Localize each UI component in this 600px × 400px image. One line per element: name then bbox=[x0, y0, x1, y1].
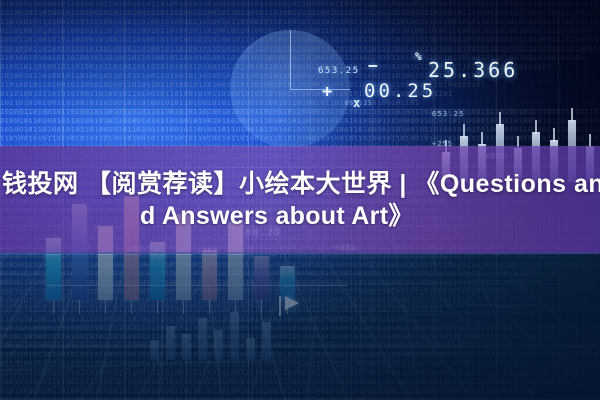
candlestick-wick bbox=[463, 124, 465, 138]
percent-symbol: % bbox=[415, 50, 422, 63]
value-653-25: 653.25 bbox=[318, 66, 360, 76]
candlestick-wick bbox=[571, 108, 573, 122]
bottom-overlay bbox=[0, 255, 600, 400]
banner-title: 钱投网 【阅赏荐读】小绘本大世界 | 《Questions an d Answe… bbox=[0, 146, 600, 254]
value-00-25: 00.25 bbox=[364, 80, 436, 102]
value-653-25-c: 653.25 bbox=[345, 100, 373, 107]
banner-title-line-2: d Answers about Art》 bbox=[0, 200, 600, 232]
banner-image: 0101001101001011010010110100101011010010… bbox=[0, 0, 600, 400]
operator-plus-icon: + bbox=[322, 82, 332, 102]
candlestick-wick bbox=[499, 112, 501, 126]
value-653-25-b: 653.25 bbox=[432, 110, 465, 118]
candlestick-wick bbox=[535, 120, 537, 134]
candlestick-wick bbox=[481, 132, 483, 146]
banner-title-line-1: 钱投网 【阅赏荐读】小绘本大世界 | 《Questions an bbox=[0, 168, 600, 200]
value-25-366: 25.366 bbox=[428, 58, 518, 82]
pie-spoke-horizontal bbox=[290, 89, 350, 90]
pie-spoke-vertical bbox=[290, 30, 291, 89]
candlestick-wick bbox=[553, 128, 555, 142]
operator-minus-icon: − bbox=[368, 56, 378, 75]
